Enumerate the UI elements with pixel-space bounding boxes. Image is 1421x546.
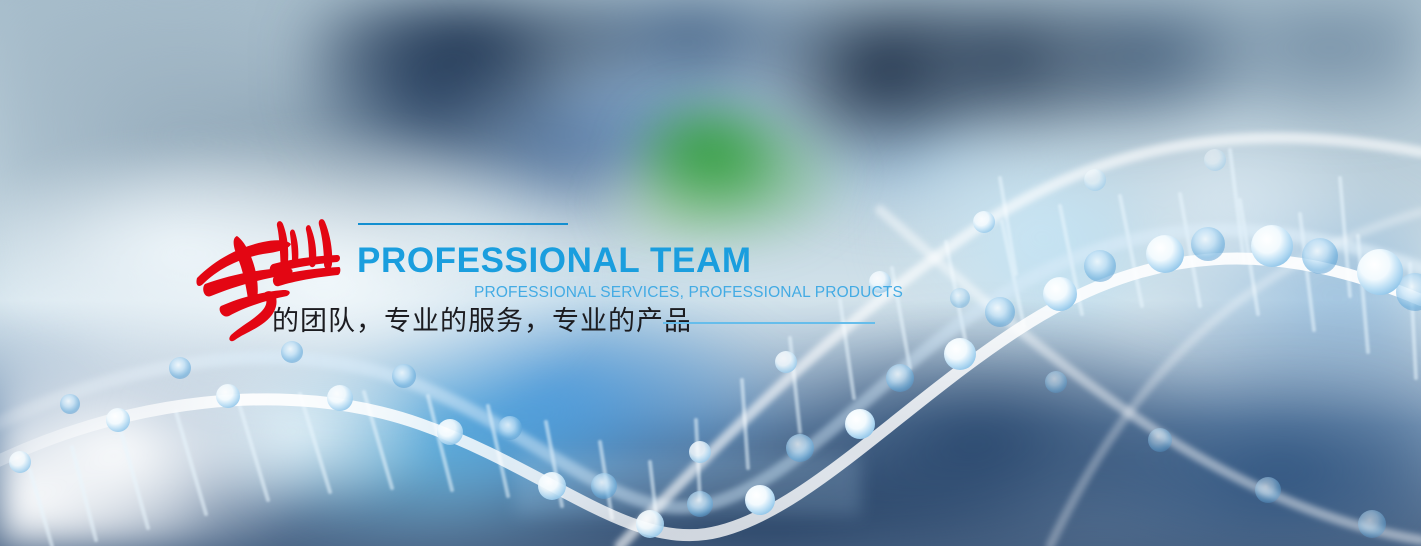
page-title-english: PROFESSIONAL TEAM — [357, 243, 752, 278]
page-subtitle-english: PROFESSIONAL SERVICES, PROFESSIONAL PROD… — [474, 285, 903, 301]
banner-content: PROFESSIONAL TEAM PROFESSIONAL SERVICES,… — [0, 0, 1421, 546]
decorative-rule-bottom — [663, 322, 875, 324]
professional-team-banner: PROFESSIONAL TEAM PROFESSIONAL SERVICES,… — [0, 0, 1421, 546]
decorative-rule-top — [358, 223, 568, 225]
page-tagline-chinese: 的团队，专业的服务，专业的产品 — [272, 305, 692, 339]
